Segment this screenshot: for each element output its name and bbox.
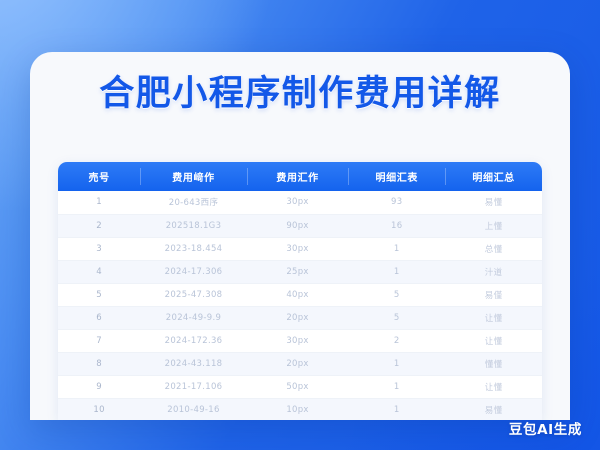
cell-fee-make: 202518.1G3 xyxy=(140,214,246,237)
cell-index: 5 xyxy=(58,283,140,306)
cell-fee-make: 2024-49-9.9 xyxy=(140,306,246,329)
cell-fee-make: 2024-17.306 xyxy=(140,260,246,283)
cell-detail-list: 5 xyxy=(348,306,445,329)
cell-index: 1 xyxy=(58,191,140,214)
column-header-fee-make: 费用﨑作 xyxy=(140,162,246,191)
table-header: 売号 费用﨑作 费用汇作 明细汇表 明细汇总 xyxy=(58,162,542,191)
cell-fee-make: 2024-172.36 xyxy=(140,329,246,352)
cell-fee-sum: 40px xyxy=(247,283,349,306)
table-header-row: 売号 费用﨑作 费用汇作 明细汇表 明细汇总 xyxy=(58,162,542,191)
cell-detail-total: 让懂 xyxy=(445,375,542,398)
table-row[interactable]: 2202518.1G390px16上懂 xyxy=(58,214,542,237)
cell-detail-list: 93 xyxy=(348,191,445,214)
cell-index: 3 xyxy=(58,237,140,260)
cell-detail-total: 总懂 xyxy=(445,237,542,260)
cell-detail-list: 5 xyxy=(348,283,445,306)
table-row[interactable]: 72024-172.3630px2让懂 xyxy=(58,329,542,352)
column-header-fee-sum: 费用汇作 xyxy=(247,162,349,191)
cell-detail-total: 上懂 xyxy=(445,214,542,237)
cell-fee-sum: 25px xyxy=(247,260,349,283)
cell-index: 6 xyxy=(58,306,140,329)
table-row[interactable]: 92021-17.10650px1让懂 xyxy=(58,375,542,398)
cell-index: 8 xyxy=(58,352,140,375)
cell-detail-list: 1 xyxy=(348,375,445,398)
column-header-detail-total: 明细汇总 xyxy=(445,162,542,191)
cell-fee-sum: 20px xyxy=(247,352,349,375)
table-row[interactable]: 32023-18.45430px1总懂 xyxy=(58,237,542,260)
slide-canvas: 合肥小程序制作费用详解 売号 费用﨑作 费用汇作 明细汇表 明细汇总 120-6… xyxy=(0,0,600,450)
cell-fee-make: 2025-47.308 xyxy=(140,283,246,306)
cell-detail-list: 1 xyxy=(348,237,445,260)
table-row[interactable]: 102010-49-1610px1易懂 xyxy=(58,398,542,420)
table-row[interactable]: 62024-49-9.920px5让懂 xyxy=(58,306,542,329)
cell-fee-sum: 30px xyxy=(247,237,349,260)
fee-table-container: 売号 费用﨑作 费用汇作 明细汇表 明细汇总 120-643西序30px93易懂… xyxy=(58,162,542,420)
cell-detail-list: 2 xyxy=(348,329,445,352)
table-body: 120-643西序30px93易懂2202518.1G390px16上懂3202… xyxy=(58,191,542,420)
table-row[interactable]: 82024-43.11820px1懂懂 xyxy=(58,352,542,375)
table-row[interactable]: 42024-17.30625px1汁道 xyxy=(58,260,542,283)
cell-fee-sum: 90px xyxy=(247,214,349,237)
cell-fee-make: 20-643西序 xyxy=(140,191,246,214)
cell-detail-total: 易懂 xyxy=(445,398,542,420)
cell-detail-list: 1 xyxy=(348,352,445,375)
cell-detail-total: 易懂 xyxy=(445,191,542,214)
cell-fee-make: 2023-18.454 xyxy=(140,237,246,260)
page-title: 合肥小程序制作费用详解 xyxy=(30,75,570,114)
cell-index: 4 xyxy=(58,260,140,283)
table-row[interactable]: 52025-47.30840px5易僅 xyxy=(58,283,542,306)
cell-fee-sum: 50px xyxy=(247,375,349,398)
cell-fee-sum: 10px xyxy=(247,398,349,420)
column-header-index: 売号 xyxy=(58,162,140,191)
cell-fee-sum: 20px xyxy=(247,306,349,329)
watermark-label: 豆包AI生成 xyxy=(509,418,582,438)
cell-detail-list: 1 xyxy=(348,398,445,420)
cell-fee-make: 2021-17.106 xyxy=(140,375,246,398)
cell-fee-sum: 30px xyxy=(247,191,349,214)
table-row[interactable]: 120-643西序30px93易懂 xyxy=(58,191,542,214)
column-header-detail-list: 明细汇表 xyxy=(348,162,445,191)
cell-fee-make: 2024-43.118 xyxy=(140,352,246,375)
cell-index: 2 xyxy=(58,214,140,237)
cell-detail-total: 让懂 xyxy=(445,329,542,352)
cell-detail-total: 让懂 xyxy=(445,306,542,329)
cell-detail-list: 16 xyxy=(348,214,445,237)
cell-detail-total: 汁道 xyxy=(445,260,542,283)
cell-detail-total: 易僅 xyxy=(445,283,542,306)
cell-fee-sum: 30px xyxy=(247,329,349,352)
cell-index: 10 xyxy=(58,398,140,420)
fee-table: 売号 费用﨑作 费用汇作 明细汇表 明细汇总 120-643西序30px93易懂… xyxy=(58,162,542,420)
cell-index: 9 xyxy=(58,375,140,398)
cell-detail-list: 1 xyxy=(348,260,445,283)
content-card: 合肥小程序制作费用详解 売号 费用﨑作 费用汇作 明细汇表 明细汇总 120-6… xyxy=(30,52,570,420)
cell-index: 7 xyxy=(58,329,140,352)
cell-fee-make: 2010-49-16 xyxy=(140,398,246,420)
cell-detail-total: 懂懂 xyxy=(445,352,542,375)
